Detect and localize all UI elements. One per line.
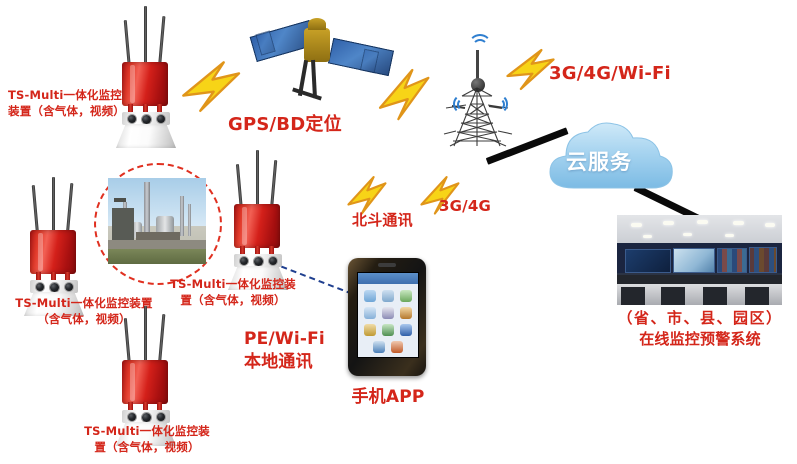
- lightning-bolt-icon: [178, 55, 258, 118]
- tablet-screen: [357, 272, 419, 358]
- mobile-3g4g-label: 3G/4G: [439, 196, 491, 216]
- cloud-icon: 云服务: [540, 118, 680, 202]
- ts-multi-device: [222, 142, 294, 282]
- gps-bd-label: GPS/BD定位: [228, 113, 342, 137]
- satellite-icon: [246, 8, 396, 108]
- diagram-canvas: 云服务: [0, 0, 797, 464]
- lightning-bolt-icon: [372, 62, 449, 125]
- wireless-3g4g-wifi-label: 3G/4G/Wi-Fi: [549, 62, 671, 86]
- beidou-label: 北斗通讯: [352, 210, 413, 230]
- center-system-label-line2: 在线监控预警系统: [608, 329, 792, 349]
- device-label-top: TS-Multi一体化监控 装置（含气体，视频）: [8, 88, 125, 119]
- device-label-bottom: TS-Multi一体化监控装 置（含气体，视频）: [62, 424, 232, 455]
- refinery-plant-photo: [108, 178, 206, 264]
- pe-wifi-local-label: PE/Wi-Fi 本地通讯: [244, 328, 325, 374]
- cloud-label: 云服务: [566, 146, 632, 176]
- ts-multi-device: [110, 300, 182, 440]
- phone-app-label: 手机APP: [333, 386, 443, 409]
- control-room-photo: [617, 215, 782, 305]
- center-system-label-line1: （省、市、县、园区）: [608, 308, 792, 328]
- rugged-tablet-device[interactable]: [348, 258, 426, 376]
- ts-multi-device: [18, 175, 90, 315]
